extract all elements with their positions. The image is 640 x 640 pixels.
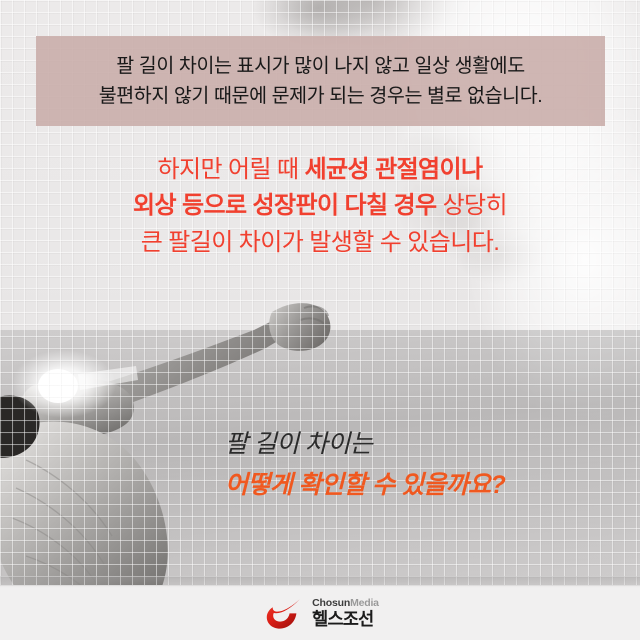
logo-brand-ko: 헬스조선	[312, 611, 379, 629]
intro-banner-line-2: 불편하지 않기 때문에 문제가 되는 경우는 별로 없습니다.	[99, 83, 543, 109]
logo-brand-media: Media	[350, 597, 379, 609]
question-line-2: 어떻게 확인할 수 있을까요?	[225, 465, 505, 506]
emphasis-line-3: 큰 팔길이 차이가 발생할 수 있습니다.	[0, 225, 640, 261]
emphasis-line-1: 하지만 어릴 때 세균성 관절염이나	[0, 152, 640, 188]
footer-bar: ChosunMedia 헬스조선	[0, 585, 640, 640]
emphasis-line-2-bold: 외상 등으로 성장판이 다칠 경우	[133, 192, 437, 219]
intro-banner-line-1: 팔 길이 차이는 표시가 많이 나지 않고 일상 생활에도	[116, 53, 524, 79]
emphasis-line-2-regular: 상당히	[437, 192, 508, 219]
emphasis-line-1-regular: 하지만 어릴 때	[157, 156, 304, 183]
logo-brand-chosun: Chosun	[312, 597, 350, 609]
emphasis-paragraph: 하지만 어릴 때 세균성 관절염이나 외상 등으로 성장판이 다칠 경우 상당히…	[0, 152, 640, 261]
footer-top-fade	[0, 576, 640, 588]
emphasis-line-3-regular: 큰 팔길이 차이가 발생할 수 있습니다.	[141, 229, 500, 256]
emphasis-line-2: 외상 등으로 성장판이 다칠 경우 상당히	[0, 188, 640, 224]
card-news-image: 팔 길이 차이는 표시가 많이 나지 않고 일상 생활에도 불편하지 않기 때문…	[0, 0, 640, 640]
chosun-media-logo: ChosunMedia 헬스조선	[261, 596, 379, 630]
question-line-1: 팔 길이 차이는	[225, 424, 505, 465]
question-block: 팔 길이 차이는 어떻게 확인할 수 있을까요?	[225, 424, 505, 505]
emphasis-line-1-bold: 세균성 관절염이나	[305, 156, 483, 183]
logo-brand-en: ChosunMedia	[312, 598, 379, 609]
intro-banner: 팔 길이 차이는 표시가 많이 나지 않고 일상 생활에도 불편하지 않기 때문…	[36, 36, 605, 126]
logo-wordmark: ChosunMedia 헬스조선	[312, 598, 379, 628]
chosun-crescent-icon	[261, 596, 303, 630]
